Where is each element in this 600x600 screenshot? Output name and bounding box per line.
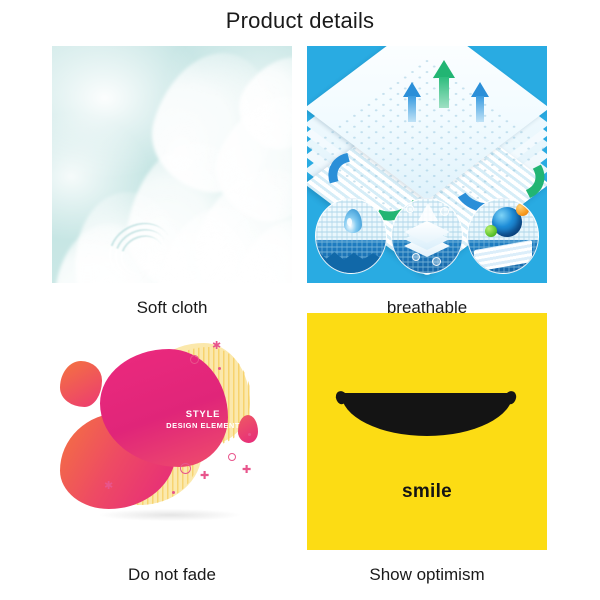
soft-cloth-image xyxy=(52,46,292,283)
bubble-icon xyxy=(412,253,420,261)
bubble-icon xyxy=(406,205,414,213)
bubble-icon xyxy=(440,207,449,216)
airflow-curve-arrow-blue-icon xyxy=(453,160,499,194)
decor-plus-icon: ✚ xyxy=(242,465,251,476)
decor-dot-icon xyxy=(218,367,221,370)
product-detail-cell-soft-cloth: Soft cloth xyxy=(52,46,292,318)
airflow-arrow-up-green-icon xyxy=(433,60,455,108)
fluid-blob-shadow xyxy=(100,509,240,521)
do-not-fade-image: STYLE DESIGN ELEMENT ✱ ✱ ✚ ✚ xyxy=(52,313,292,550)
decor-ring-icon xyxy=(190,355,199,364)
breathable-image xyxy=(307,46,547,283)
bubble-icon xyxy=(432,257,441,266)
green-ball-icon xyxy=(485,225,497,237)
breathable-inset-3d-structure xyxy=(467,198,539,274)
page-title: Product details xyxy=(0,8,600,34)
product-detail-cell-breathable: breathable xyxy=(307,46,547,318)
airflow-arrow-up-blue-icon xyxy=(471,82,489,122)
vapor-layers-icon xyxy=(404,221,450,255)
vapor-cone-icon xyxy=(418,203,438,221)
decor-ring-icon xyxy=(180,463,191,474)
product-detail-cell-show-optimism: smile Show optimism xyxy=(307,313,547,585)
breathable-inset-water-repellent xyxy=(315,198,387,274)
decor-plus-icon: ✚ xyxy=(200,471,209,482)
decor-ring-icon xyxy=(228,453,236,461)
airflow-arrow-up-blue-icon xyxy=(403,82,421,122)
panel-caption-show-optimism: Show optimism xyxy=(307,565,547,585)
breathable-inset-moisture-wicking xyxy=(391,198,463,274)
decor-star-icon: ✱ xyxy=(212,341,221,352)
orange-ball-icon xyxy=(516,203,529,216)
smile-overlay-text: smile xyxy=(307,481,547,503)
fabric-layer-stack xyxy=(325,56,529,194)
fluid-text-design-element: DESIGN ELEMENT xyxy=(156,421,250,430)
show-optimism-image: smile xyxy=(307,313,547,550)
airflow-curve-arrow-green-icon xyxy=(361,168,407,202)
smile-mouth-icon xyxy=(341,393,513,479)
product-details-grid: Soft cloth xyxy=(52,46,548,586)
fluid-overlay-text: STYLE DESIGN ELEMENT xyxy=(156,409,250,430)
fluid-text-style: STYLE xyxy=(156,409,250,421)
fluid-blob-small xyxy=(60,361,102,407)
panel-caption-do-not-fade: Do not fade xyxy=(52,565,292,585)
breathable-inset-row xyxy=(315,198,539,274)
product-detail-cell-do-not-fade: STYLE DESIGN ELEMENT ✱ ✱ ✚ ✚ Do not fade xyxy=(52,313,292,585)
decor-star-icon: ✱ xyxy=(104,481,113,492)
water-droplet-icon xyxy=(344,209,362,233)
decor-dot-icon xyxy=(172,491,175,494)
decor-dot-icon xyxy=(248,433,251,436)
